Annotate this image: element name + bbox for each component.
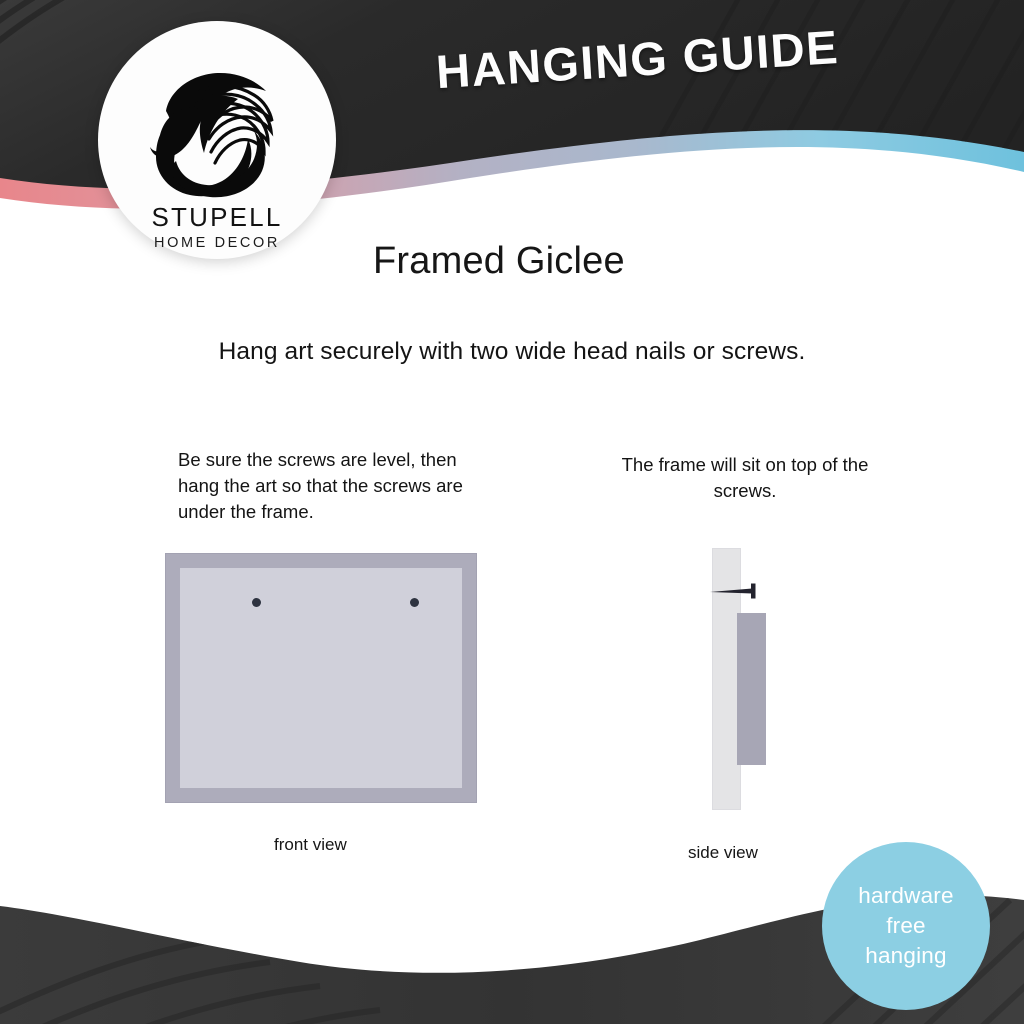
hardware-free-hanging-badge: hardware free hanging — [822, 842, 990, 1010]
side-view-caption: The frame will sit on top of the screws. — [600, 452, 890, 504]
product-title: Framed Giclee — [373, 240, 625, 283]
brand-name: STUPELL — [98, 202, 336, 233]
front-view-mat — [180, 568, 462, 788]
hanging-guide-page: HANGING GUIDE STUPELL HOME DECOR Framed … — [0, 0, 1024, 1024]
front-view-caption: Be sure the screws are level, then hang … — [178, 447, 478, 525]
side-view-frame — [737, 613, 766, 765]
badge-line-1: hardware — [858, 881, 953, 911]
front-view-label: front view — [274, 835, 347, 855]
front-view-frame-diagram — [165, 553, 477, 803]
lead-instruction: Hang art securely with two wide head nai… — [0, 338, 1024, 366]
stupell-s-swoosh-icon — [146, 65, 282, 201]
side-view-diagram — [700, 545, 810, 820]
badge-line-2: free — [886, 911, 926, 941]
screw-dot-right-icon — [410, 598, 419, 607]
side-view-label: side view — [688, 843, 758, 863]
brand-logo-badge: STUPELL HOME DECOR — [98, 21, 336, 259]
badge-line-3: hanging — [865, 941, 946, 971]
screw-side-icon — [708, 580, 764, 602]
screw-dot-left-icon — [252, 598, 261, 607]
brand-tagline: HOME DECOR — [98, 235, 336, 251]
